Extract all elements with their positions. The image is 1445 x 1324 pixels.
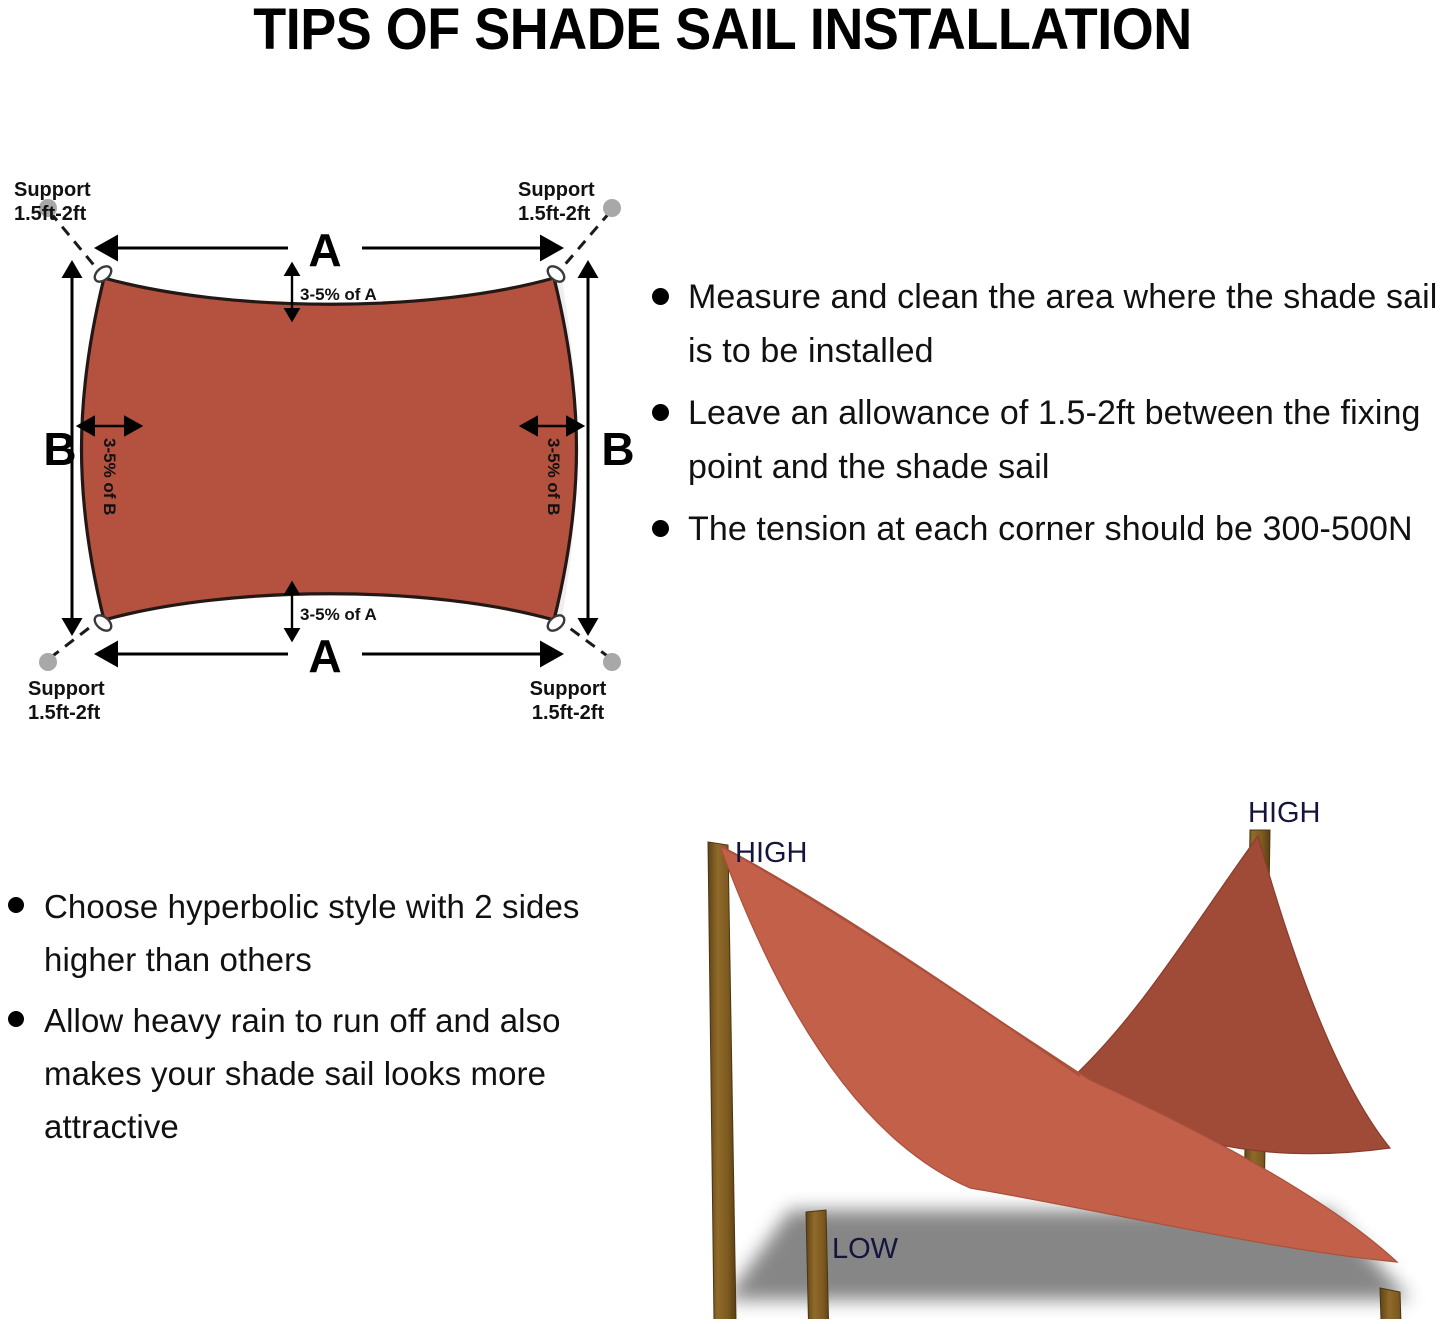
installation-tips-list: Measure and clean the area where the sha… — [640, 270, 1445, 670]
label-low-right: LOW — [1295, 1315, 1362, 1319]
bullet-dot-icon — [8, 1011, 24, 1027]
support-line-bottom-left — [50, 618, 102, 658]
curvature-label-top: 3-5% of A — [300, 285, 377, 304]
support-dot-bottom-left — [39, 653, 57, 671]
tip-text: Measure and clean the area where the sha… — [688, 278, 1437, 370]
label-high-right: HIGH — [1248, 797, 1321, 829]
list-item: Allow heavy rain to run off and also mak… — [0, 994, 640, 1153]
shade-sail-shape — [82, 278, 577, 620]
list-item: The tension at each corner should be 300… — [640, 502, 1445, 556]
post-low-left — [806, 1210, 830, 1319]
support-label-bottom-right: Support 1.5ft-2ft — [530, 678, 607, 724]
bullet-dot-icon — [652, 288, 669, 305]
dimension-b-left: B — [43, 278, 76, 618]
support-bottom-right-line2: 1.5ft-2ft — [532, 702, 605, 724]
support-bottom-left-line1: Support — [28, 678, 105, 700]
dimension-b-right: B — [588, 278, 635, 618]
support-top-right-line2: 1.5ft-2ft — [518, 203, 591, 225]
support-dot-top-right — [603, 199, 621, 217]
dimension-label-a-bottom: A — [308, 630, 341, 682]
hypar-sail-svg: HIGH HIGH LOW LOW — [670, 780, 1445, 1319]
support-label-top-right: Support 1.5ft-2ft — [518, 179, 595, 225]
curvature-note-bottom: 3-5% of A — [292, 595, 377, 628]
bullet-dot-icon — [652, 404, 669, 421]
page-title: TIPS OF SHADE SAIL INSTALLATION — [51, 0, 1395, 62]
hypar-bullets: Choose hyperbolic style with 2 sides hig… — [0, 880, 640, 1153]
infographic-page: TIPS OF SHADE SAIL INSTALLATION — [0, 0, 1445, 1319]
bullet-dot-icon — [8, 897, 24, 913]
curvature-note-top: 3-5% of A — [292, 276, 377, 308]
post-high-left — [708, 842, 736, 1319]
label-high-left: HIGH — [735, 837, 808, 869]
bullet-dot-icon — [652, 520, 669, 537]
support-bottom-right-line1: Support — [530, 678, 607, 700]
list-item: Choose hyperbolic style with 2 sides hig… — [0, 880, 640, 986]
support-top-left-line2: 1.5ft-2ft — [14, 203, 87, 225]
tip-text: The tension at each corner should be 300… — [688, 510, 1413, 548]
support-label-bottom-left: Support 1.5ft-2ft — [28, 678, 105, 724]
hyperbolic-tips-list: Choose hyperbolic style with 2 sides hig… — [0, 880, 640, 1220]
dimension-a-top: A — [118, 224, 540, 276]
rect-sail-svg: A 3-5% of A A 3-5% of A B — [0, 150, 660, 730]
label-low-left: LOW — [832, 1233, 899, 1265]
support-bottom-left-line2: 1.5ft-2ft — [28, 702, 101, 724]
dimension-label-b-right: B — [601, 423, 634, 475]
support-dot-bottom-right — [603, 653, 621, 671]
curvature-label-right: 3-5% of B — [544, 438, 563, 515]
curvature-label-left: 3-5% of B — [100, 438, 119, 515]
list-item: Measure and clean the area where the sha… — [640, 270, 1445, 378]
curvature-label-bottom: 3-5% of A — [300, 605, 377, 624]
tip-text: Allow heavy rain to run off and also mak… — [44, 1002, 561, 1145]
support-top-left-line1: Support — [14, 179, 91, 201]
dimension-a-bottom: A — [118, 630, 540, 682]
dimension-label-b-left: B — [43, 423, 76, 475]
tip-text: Leave an allowance of 1.5-2ft between th… — [688, 394, 1421, 486]
hypar-sail-diagram: HIGH HIGH LOW LOW — [670, 780, 1445, 1319]
dimension-label-a-top: A — [308, 224, 341, 276]
list-item: Leave an allowance of 1.5-2ft between th… — [640, 386, 1445, 494]
support-top-right-line1: Support — [518, 179, 595, 201]
tips-bullets: Measure and clean the area where the sha… — [640, 270, 1445, 556]
rect-sail-diagram: A 3-5% of A A 3-5% of A B — [0, 150, 660, 730]
tip-text: Choose hyperbolic style with 2 sides hig… — [44, 888, 580, 978]
